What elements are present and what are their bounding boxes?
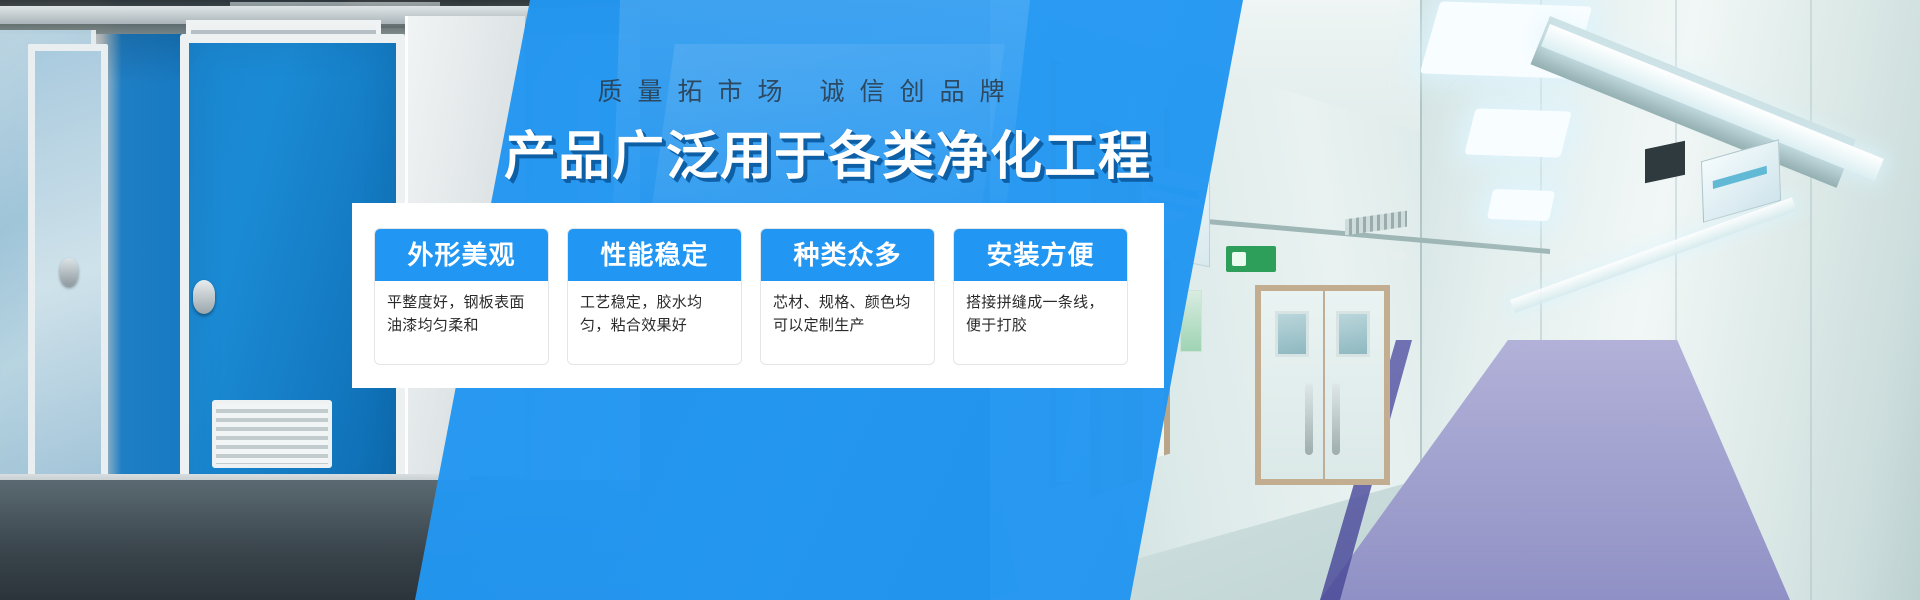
feature-card-title: 外形美观	[374, 228, 549, 281]
feature-card-title: 种类众多	[760, 228, 935, 281]
feature-card-text: 工艺稳定，胶水均匀，粘合效果好	[568, 281, 741, 364]
feature-card-text: 芯材、规格、颜色均可以定制生产	[761, 281, 934, 364]
feature-card[interactable]: 外形美观 平整度好，钢板表面油漆均匀柔和	[374, 228, 549, 365]
feature-card[interactable]: 安装方便 搭接拼缝成一条线，便于打胶	[953, 228, 1128, 365]
feature-card[interactable]: 性能稳定 工艺稳定，胶水均匀，粘合效果好	[567, 228, 742, 365]
feature-card-title: 安装方便	[953, 228, 1128, 281]
feature-card-panel: 外形美观 平整度好，钢板表面油漆均匀柔和 性能稳定 工艺稳定，胶水均匀，粘合效果…	[352, 203, 1164, 388]
feature-card[interactable]: 种类众多 芯材、规格、颜色均可以定制生产	[760, 228, 935, 365]
promo-banner: 质量拓市场 诚信创品牌 产品广泛用于各类净化工程 外形美观 平整度好，钢板表面油…	[0, 0, 1920, 600]
feature-card-text: 搭接拼缝成一条线，便于打胶	[954, 281, 1127, 364]
feature-card-list: 外形美观 平整度好，钢板表面油漆均匀柔和 性能稳定 工艺稳定，胶水均匀，粘合效果…	[352, 203, 1164, 388]
feature-card-title: 性能稳定	[567, 228, 742, 281]
feature-card-text: 平整度好，钢板表面油漆均匀柔和	[375, 281, 548, 364]
banner-headline: 产品广泛用于各类净化工程	[504, 114, 1084, 189]
banner-tagline: 质量拓市场 诚信创品牌	[531, 72, 1071, 108]
